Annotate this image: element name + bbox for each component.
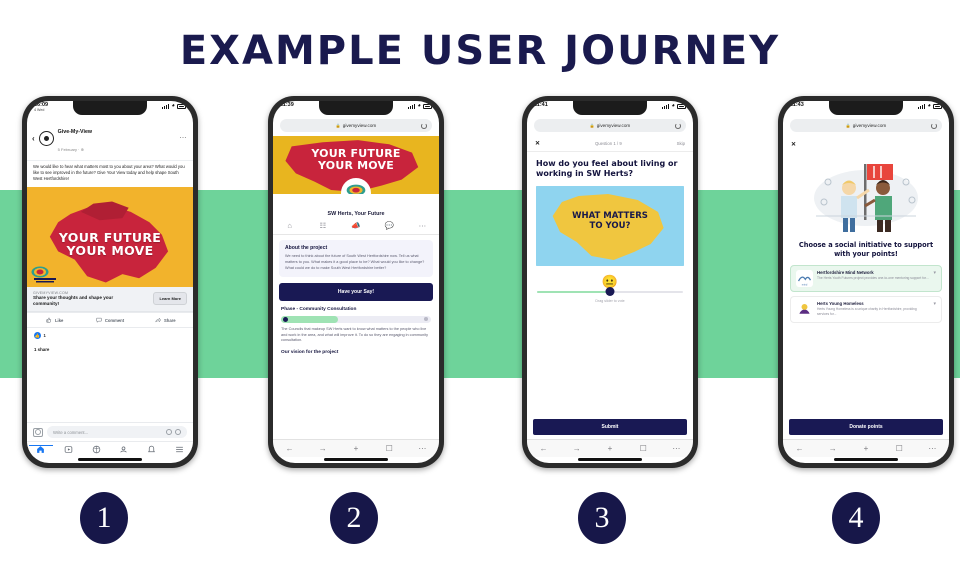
phase-progress-bar bbox=[281, 316, 431, 323]
phone1-status-carrier: 4 Wed bbox=[34, 109, 48, 113]
more-icon[interactable]: ⋯ bbox=[916, 444, 949, 453]
step-number-3: 3 bbox=[578, 492, 626, 544]
add-icon[interactable]: + bbox=[849, 444, 882, 453]
close-icon[interactable]: ✕ bbox=[783, 136, 949, 148]
phone2-url-bar[interactable]: 🔒 givemyview.com bbox=[280, 119, 432, 132]
initiative-illustration bbox=[783, 152, 949, 238]
battery-icon bbox=[177, 104, 186, 109]
slider-thumb[interactable] bbox=[606, 287, 615, 296]
forward-icon[interactable]: → bbox=[306, 444, 339, 453]
reload-icon[interactable] bbox=[931, 123, 937, 129]
thumbs-up-icon bbox=[46, 317, 52, 323]
close-icon[interactable]: ✕ bbox=[535, 140, 540, 147]
phone2-home-indicator bbox=[324, 458, 388, 461]
phone3-url-bar[interactable]: 🔒 givemyview.com bbox=[534, 119, 686, 132]
comment-label: Comment bbox=[105, 318, 124, 323]
phone-mockups-row: 16:09 4 Wed ◕ ‹ Give-My-View 5 February … bbox=[0, 0, 960, 570]
phone2-status-time: 11:39 bbox=[280, 103, 294, 109]
link-title: Share your thoughts and shape your commu… bbox=[33, 295, 138, 307]
phone4-screen: 11:43 ◕ 🔒 givemyview.com ✕ bbox=[783, 101, 949, 463]
step-number-2: 2 bbox=[330, 492, 378, 544]
question-image: WHAT MATTERS TO YOU? bbox=[536, 186, 684, 266]
fb-nav-groups[interactable] bbox=[110, 445, 138, 454]
forward-icon[interactable]: → bbox=[816, 444, 849, 453]
tab-home[interactable]: ⌂ bbox=[273, 221, 306, 230]
like-button[interactable]: Like bbox=[27, 317, 82, 323]
phone3-url-text: givemyview.com bbox=[597, 123, 630, 128]
signal-icon bbox=[162, 104, 169, 109]
battery-icon bbox=[933, 104, 942, 109]
more-icon[interactable]: ⋯ bbox=[660, 444, 693, 453]
emoji-indicator: 😐 bbox=[537, 275, 683, 288]
reaction-count: 1 bbox=[44, 333, 46, 338]
back-icon[interactable]: ← bbox=[527, 444, 560, 453]
fb-nav-home[interactable] bbox=[27, 445, 55, 454]
comment-input[interactable]: Write a comment... bbox=[47, 426, 187, 438]
tab-more[interactable]: ⋯ bbox=[406, 221, 439, 230]
svg-text:mind: mind bbox=[802, 283, 808, 287]
phone2-about-card: About the project We need to think about… bbox=[279, 240, 433, 277]
wifi-icon: ◕ bbox=[927, 104, 931, 109]
tabs-icon[interactable]: ☐ bbox=[627, 444, 660, 453]
charity-card-1[interactable]: mind Hertfordshire Mind Network The Hert… bbox=[790, 265, 942, 292]
forward-icon[interactable]: → bbox=[560, 444, 593, 453]
phone3-notch bbox=[573, 101, 647, 115]
facebook-bottom-nav bbox=[27, 441, 193, 457]
phone4-home-indicator bbox=[834, 458, 898, 461]
sticker-icon[interactable] bbox=[166, 429, 172, 435]
phone3-screen: 11:41 ◕ 🔒 givemyview.com ✕ Question 1 / … bbox=[527, 101, 693, 463]
facebook-post-meta: 5 February · ⊕ bbox=[58, 147, 84, 152]
charity-card-2[interactable]: Herts Young Homeless Herts Young Homeles… bbox=[790, 296, 942, 323]
initiative-heading: Choose a social initiative to support wi… bbox=[783, 238, 949, 265]
bell-icon bbox=[147, 445, 156, 454]
tabs-icon[interactable]: ☐ bbox=[373, 444, 406, 453]
battery-icon bbox=[423, 104, 432, 109]
phone2-phase-section: Phase - Community Consultation The Counc… bbox=[273, 307, 439, 345]
comment-button[interactable]: Comment bbox=[82, 317, 137, 323]
chevron-down-icon[interactable]: ▾ bbox=[933, 270, 936, 276]
phone1-notch bbox=[73, 101, 147, 115]
facebook-post-header: ‹ Give-My-View 5 February · ⊕ ⋯ bbox=[27, 116, 193, 161]
feeling-slider[interactable]: 😐 Drag slider to vote bbox=[537, 275, 683, 303]
reload-icon[interactable] bbox=[675, 123, 681, 129]
phase-text: The Councils that makeup SW Herts want t… bbox=[281, 327, 431, 345]
vision-heading: Our vision for the project bbox=[273, 344, 439, 355]
facebook-post-text: We would like to hear what matters most … bbox=[27, 161, 193, 187]
facebook-image-overlay: YOUR FUTURE YOUR MOVE bbox=[27, 231, 193, 257]
home-icon bbox=[36, 445, 45, 454]
comment-icon bbox=[96, 317, 102, 323]
phone-mockup-4: 11:43 ◕ 🔒 givemyview.com ✕ bbox=[778, 96, 954, 468]
step-number-1: 1 bbox=[80, 492, 128, 544]
step-number-4: 4 bbox=[832, 492, 880, 544]
ellipsis-icon[interactable]: ⋯ bbox=[180, 134, 188, 142]
question-image-caption: WHAT MATTERS TO YOU? bbox=[536, 212, 684, 232]
lock-icon: 🔒 bbox=[336, 123, 341, 128]
phone2-hero-text: YOUR FUTURE YOUR MOVE bbox=[273, 148, 439, 171]
battery-icon bbox=[677, 104, 686, 109]
phase-heading: Phase - Community Consultation bbox=[281, 307, 431, 312]
phone-mockup-3: 11:41 ◕ 🔒 givemyview.com ✕ Question 1 / … bbox=[522, 96, 698, 468]
phone1-screen: 16:09 4 Wed ◕ ‹ Give-My-View 5 February … bbox=[27, 101, 193, 463]
more-icon[interactable]: ⋯ bbox=[406, 444, 439, 453]
tab-megaphone[interactable]: 📣 bbox=[339, 221, 372, 230]
sw-herts-logo bbox=[31, 265, 59, 285]
phone-mockup-1: 16:09 4 Wed ◕ ‹ Give-My-View 5 February … bbox=[22, 96, 198, 468]
phone2-hero-banner: YOUR FUTURE YOUR MOVE bbox=[273, 136, 439, 194]
progress-knob-current bbox=[283, 317, 288, 322]
wifi-icon: ◕ bbox=[671, 104, 675, 109]
signal-icon bbox=[408, 104, 415, 109]
add-icon[interactable]: + bbox=[593, 444, 626, 453]
charity-description: Herts Young Homeless is a unique charity… bbox=[817, 307, 929, 316]
herts-young-homeless-logo bbox=[796, 301, 813, 318]
slider-hint: Drag slider to vote bbox=[537, 299, 683, 303]
signal-icon bbox=[918, 104, 925, 109]
phone2-safari-toolbar: ← → + ☐ ⋯ bbox=[273, 439, 439, 457]
phone2-notch bbox=[319, 101, 393, 115]
fb-nav-marketplace[interactable] bbox=[82, 445, 110, 454]
people-with-flag-illustration bbox=[783, 152, 949, 238]
facebook-link-preview[interactable]: GIVEMYVIEW.COM Share your thoughts and s… bbox=[27, 287, 193, 313]
camera-icon[interactable] bbox=[33, 428, 43, 437]
like-reaction-icon: 👍 bbox=[34, 332, 41, 339]
phone1-home-indicator bbox=[78, 458, 142, 461]
fb-nav-watch[interactable] bbox=[55, 445, 83, 454]
hamburger-icon bbox=[175, 445, 184, 454]
phone4-status-time: 11:43 bbox=[790, 103, 804, 109]
video-icon bbox=[64, 445, 73, 454]
fb-nav-menu[interactable] bbox=[165, 445, 193, 454]
tab-chat[interactable]: 💬 bbox=[373, 221, 406, 230]
phone2-tab-bar: ⌂ ☷ 📣 💬 ⋯ bbox=[273, 217, 439, 235]
phone2-url-text: givemyview.com bbox=[343, 123, 376, 128]
facebook-reactions[interactable]: 👍 1 bbox=[27, 328, 193, 342]
submit-button[interactable]: Submit bbox=[533, 419, 687, 435]
question-counter: Question 1 / 9 bbox=[595, 141, 622, 146]
phone4-url-text: givemyview.com bbox=[853, 123, 886, 128]
phone4-safari-toolbar: ← → + ☐ ⋯ bbox=[783, 439, 949, 457]
have-your-say-button[interactable]: Have your Say! bbox=[279, 283, 433, 301]
back-icon[interactable]: ← bbox=[273, 444, 306, 453]
share-label: Share bbox=[164, 318, 176, 323]
share-count: 1 share bbox=[27, 342, 193, 357]
slider-track[interactable] bbox=[537, 291, 683, 293]
question-title: How do you feel about living or working … bbox=[527, 152, 693, 186]
facebook-page-name[interactable]: Give-My-View bbox=[58, 129, 92, 135]
share-icon bbox=[155, 317, 161, 323]
lock-icon: 🔒 bbox=[590, 123, 595, 128]
chevron-left-icon[interactable]: ‹ bbox=[32, 134, 35, 143]
donate-points-button[interactable]: Donate points bbox=[789, 419, 943, 435]
tabs-icon[interactable]: ☐ bbox=[883, 444, 916, 453]
progress-knob-end bbox=[424, 317, 428, 321]
wifi-icon: ◕ bbox=[417, 104, 421, 109]
phone3-status-time: 11:41 bbox=[534, 103, 548, 109]
reload-icon[interactable] bbox=[421, 123, 427, 129]
signal-icon bbox=[662, 104, 669, 109]
groups-icon bbox=[119, 445, 128, 454]
skip-button[interactable]: Skip bbox=[677, 141, 685, 146]
phone3-safari-toolbar: ← → + ☐ ⋯ bbox=[527, 439, 693, 457]
share-button[interactable]: Share bbox=[138, 317, 193, 323]
avatar[interactable] bbox=[39, 131, 54, 146]
facebook-post-image[interactable]: YOUR FUTURE YOUR MOVE bbox=[27, 187, 193, 287]
phone2-screen: 11:39 ◕ 🔒 givemyview.com YOUR FUTURE bbox=[273, 101, 439, 463]
question-header: ✕ Question 1 / 9 Skip bbox=[527, 136, 693, 152]
add-icon[interactable]: + bbox=[339, 444, 372, 453]
phone4-url-bar[interactable]: 🔒 givemyview.com bbox=[790, 119, 942, 132]
marketplace-icon bbox=[92, 445, 101, 454]
facebook-comment-bar: Write a comment... bbox=[27, 422, 193, 441]
chevron-down-icon[interactable]: ▾ bbox=[933, 301, 936, 307]
tab-map[interactable]: ☷ bbox=[306, 221, 339, 230]
hertfordshire-mind-network-logo: mind bbox=[796, 270, 813, 287]
about-heading: About the project bbox=[285, 245, 427, 251]
wifi-icon: ◕ bbox=[171, 104, 175, 109]
about-text: We need to think about the future of Sou… bbox=[285, 254, 427, 272]
charity-description: The Herts Youth Futures project provides… bbox=[817, 276, 929, 280]
phone-mockup-2: 11:39 ◕ 🔒 givemyview.com YOUR FUTURE bbox=[268, 96, 444, 468]
learn-more-button[interactable]: Learn More bbox=[153, 292, 187, 305]
back-icon[interactable]: ← bbox=[783, 444, 816, 453]
phone3-home-indicator bbox=[578, 458, 642, 461]
facebook-action-row: Like Comment Share bbox=[27, 312, 193, 328]
lock-icon: 🔒 bbox=[846, 123, 851, 128]
emoji-icon[interactable] bbox=[175, 429, 181, 435]
fb-nav-notifications[interactable] bbox=[138, 445, 166, 454]
phone4-notch bbox=[829, 101, 903, 115]
comment-placeholder: Write a comment... bbox=[53, 430, 88, 435]
like-label: Like bbox=[55, 318, 63, 323]
